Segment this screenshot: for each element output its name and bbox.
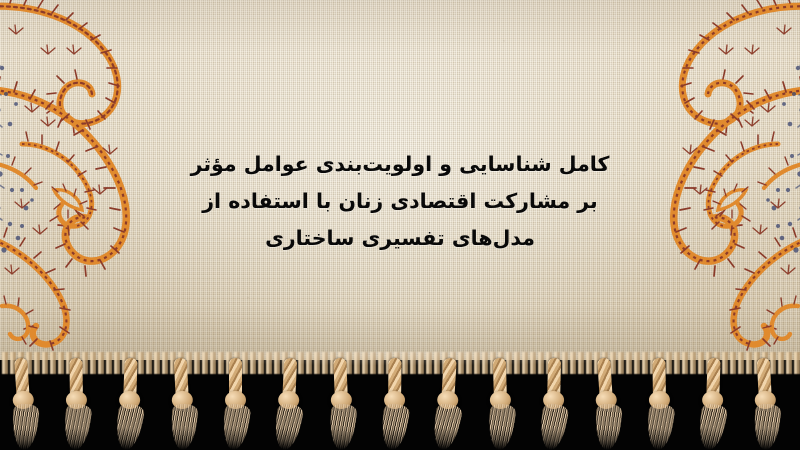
tassel-brush <box>487 403 517 450</box>
fringe-tassel <box>218 358 252 450</box>
tassel-brush <box>538 403 570 450</box>
tassel-brush <box>753 403 782 450</box>
fringe-tassel <box>3 357 43 450</box>
tassel-brush <box>430 402 463 450</box>
title-line-1: کامل شناسایی و اولویت‌بندی عوامل مؤثر <box>0 146 800 183</box>
fringe-tassel <box>641 358 676 450</box>
fringe-tassel <box>269 357 307 450</box>
tassel-brush <box>272 402 305 450</box>
fringe-tassel <box>110 357 147 450</box>
title-line-3: مدل‌های تفسیری ساختاری <box>0 220 800 257</box>
fringe-tassel <box>693 357 730 450</box>
tassel-brush <box>379 403 410 450</box>
presentation-title: کامل شناسایی و اولویت‌بندی عوامل مؤثر بر… <box>0 146 800 257</box>
tassel-brush <box>696 402 728 450</box>
tassel-brush <box>62 403 92 450</box>
fringe-tassel <box>482 358 518 450</box>
fringe-tassel <box>427 357 467 450</box>
title-line-2: بر مشارکت اقتصادی زنان با استفاده از <box>0 183 800 220</box>
fringe-tassel <box>58 358 93 450</box>
fringe-tassel <box>376 358 411 450</box>
tassel-brush <box>221 403 252 450</box>
tassel-brush <box>170 403 199 450</box>
fringe-tassel <box>746 357 784 450</box>
tassel-brush <box>328 403 357 450</box>
fringe-tassel <box>535 358 571 450</box>
tassel-brush <box>645 403 675 450</box>
tassel-brush <box>594 403 622 450</box>
tassel-brush <box>11 403 39 450</box>
fringe-tassel <box>163 357 201 450</box>
title-slide: کامل شناسایی و اولویت‌بندی عوامل مؤثر بر… <box>0 0 800 450</box>
tassel-brush <box>113 402 145 450</box>
fringe-tassel <box>586 357 626 450</box>
fringe-tassel <box>322 357 359 450</box>
